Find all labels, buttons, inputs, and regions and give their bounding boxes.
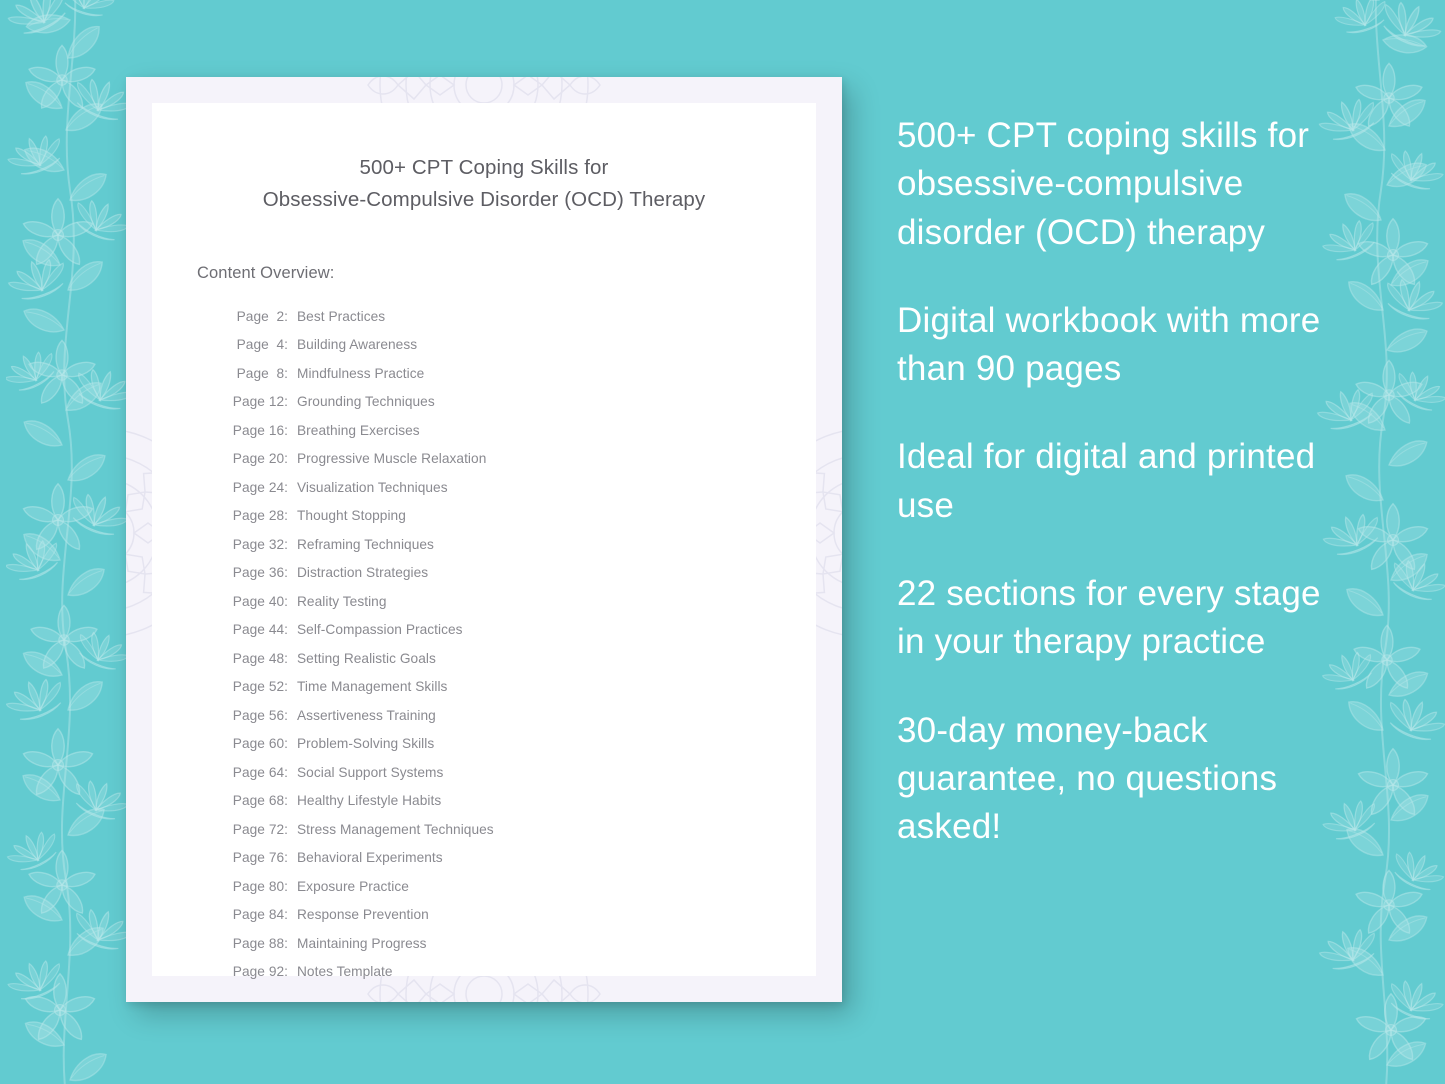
toc-entry-page: Page 68: — [222, 794, 288, 808]
toc-entry-title: Setting Realistic Goals — [288, 652, 436, 666]
toc-entry-page: Page 92: — [222, 965, 288, 979]
toc-entry: Page 92:Notes Template — [222, 958, 816, 986]
toc-entry-title: Problem-Solving Skills — [288, 737, 434, 751]
toc-entry-title: Assertiveness Training — [288, 709, 436, 723]
toc-entry: Page 52:Time Management Skills — [222, 673, 816, 701]
toc-entry: Page 36:Distraction Strategies — [222, 559, 816, 587]
page-title: 500+ CPT Coping Skills for Obsessive-Com… — [152, 152, 816, 216]
toc-entry-title: Notes Template — [288, 965, 393, 979]
toc-entry-page: Page 48: — [222, 652, 288, 666]
toc-entry-page: Page 28: — [222, 509, 288, 523]
toc-entry-title: Social Support Systems — [288, 766, 443, 780]
toc-entry-page: Page 36: — [222, 566, 288, 580]
toc-entry-title: Mindfulness Practice — [288, 367, 424, 381]
toc-entry-page: Page 76: — [222, 851, 288, 865]
toc-entry-page: Page 8: — [222, 367, 288, 381]
toc-entry-page: Page 40: — [222, 595, 288, 609]
toc-entry-page: Page 32: — [222, 538, 288, 552]
toc-entry: Page 72:Stress Management Techniques — [222, 815, 816, 843]
toc-entry: Page 24:Visualization Techniques — [222, 473, 816, 501]
toc-entry-page: Page 56: — [222, 709, 288, 723]
marketing-bullet: Digital workbook with more than 90 pages — [897, 297, 1327, 394]
toc-entry: Page 60:Problem-Solving Skills — [222, 730, 816, 758]
toc-entry-title: Thought Stopping — [288, 509, 406, 523]
toc-entry-page: Page 64: — [222, 766, 288, 780]
promo-graphic: 500+ CPT Coping Skills for Obsessive-Com… — [0, 0, 1445, 1084]
toc-entry: Page 32:Reframing Techniques — [222, 530, 816, 558]
toc-entry: Page 84:Response Prevention — [222, 901, 816, 929]
toc-entry-title: Maintaining Progress — [288, 937, 427, 951]
toc-entry: Page 20:Progressive Muscle Relaxation — [222, 445, 816, 473]
content-overview-label: Content Overview: — [197, 264, 816, 283]
toc-entry-page: Page 80: — [222, 880, 288, 894]
toc-entry-title: Exposure Practice — [288, 880, 409, 894]
toc-entry-title: Reality Testing — [288, 595, 387, 609]
marketing-bullet: 30-day money-back guarantee, no question… — [897, 707, 1327, 852]
toc-entry: Page 8:Mindfulness Practice — [222, 360, 816, 388]
toc-entry: Page 40:Reality Testing — [222, 587, 816, 615]
workbook-page: 500+ CPT Coping Skills for Obsessive-Com… — [152, 103, 816, 976]
toc-entry-page: Page 84: — [222, 908, 288, 922]
toc-entry-title: Progressive Muscle Relaxation — [288, 452, 486, 466]
toc-entry-page: Page 24: — [222, 481, 288, 495]
toc-entry-page: Page 60: — [222, 737, 288, 751]
toc-entry-title: Self-Compassion Practices — [288, 623, 463, 637]
toc-entry-title: Best Practices — [288, 310, 385, 324]
workbook-preview-card: 500+ CPT Coping Skills for Obsessive-Com… — [126, 77, 842, 1002]
toc-entry: Page 4:Building Awareness — [222, 331, 816, 359]
toc-entry-title: Stress Management Techniques — [288, 823, 494, 837]
toc-entry: Page 80:Exposure Practice — [222, 872, 816, 900]
toc-entry: Page 76:Behavioral Experiments — [222, 844, 816, 872]
toc-entry-page: Page 20: — [222, 452, 288, 466]
toc-entry-title: Grounding Techniques — [288, 395, 435, 409]
toc-entry: Page 16:Breathing Exercises — [222, 416, 816, 444]
marketing-bullet: 500+ CPT coping skills for obsessive-com… — [897, 112, 1327, 257]
marketing-bullet: Ideal for digital and printed use — [897, 433, 1327, 530]
toc-entry: Page 48:Setting Realistic Goals — [222, 644, 816, 672]
toc-entry-title: Visualization Techniques — [288, 481, 448, 495]
toc-entry: Page 44:Self-Compassion Practices — [222, 616, 816, 644]
toc-entry-page: Page 4: — [222, 338, 288, 352]
toc-entry: Page 28:Thought Stopping — [222, 502, 816, 530]
toc-entry-page: Page 88: — [222, 937, 288, 951]
marketing-bullets: 500+ CPT coping skills for obsessive-com… — [897, 112, 1327, 852]
toc-entry-title: Building Awareness — [288, 338, 417, 352]
toc-entry-page: Page 12: — [222, 395, 288, 409]
page-title-line-1: 500+ CPT Coping Skills for — [152, 152, 816, 184]
toc-entry-page: Page 52: — [222, 680, 288, 694]
toc-entry-title: Reframing Techniques — [288, 538, 434, 552]
toc-entry: Page 64:Social Support Systems — [222, 758, 816, 786]
toc-entry: Page 2:Best Practices — [222, 303, 816, 331]
toc-entry-page: Page 72: — [222, 823, 288, 837]
marketing-bullet: 22 sections for every stage in your ther… — [897, 570, 1327, 667]
toc-entry-page: Page 16: — [222, 424, 288, 438]
toc-entry-page: Page 44: — [222, 623, 288, 637]
toc-entry: Page 12:Grounding Techniques — [222, 388, 816, 416]
toc-entry: Page 88:Maintaining Progress — [222, 929, 816, 957]
table-of-contents: Page 2:Best PracticesPage 4:Building Awa… — [222, 303, 816, 987]
toc-entry-title: Time Management Skills — [288, 680, 447, 694]
toc-entry-page: Page 2: — [222, 310, 288, 324]
toc-entry-title: Healthy Lifestyle Habits — [288, 794, 441, 808]
toc-entry-title: Breathing Exercises — [288, 424, 420, 438]
toc-entry: Page 56:Assertiveness Training — [222, 701, 816, 729]
page-title-line-2: Obsessive-Compulsive Disorder (OCD) Ther… — [152, 184, 816, 216]
toc-entry-title: Behavioral Experiments — [288, 851, 443, 865]
toc-entry-title: Distraction Strategies — [288, 566, 428, 580]
toc-entry-title: Response Prevention — [288, 908, 429, 922]
toc-entry: Page 68:Healthy Lifestyle Habits — [222, 787, 816, 815]
